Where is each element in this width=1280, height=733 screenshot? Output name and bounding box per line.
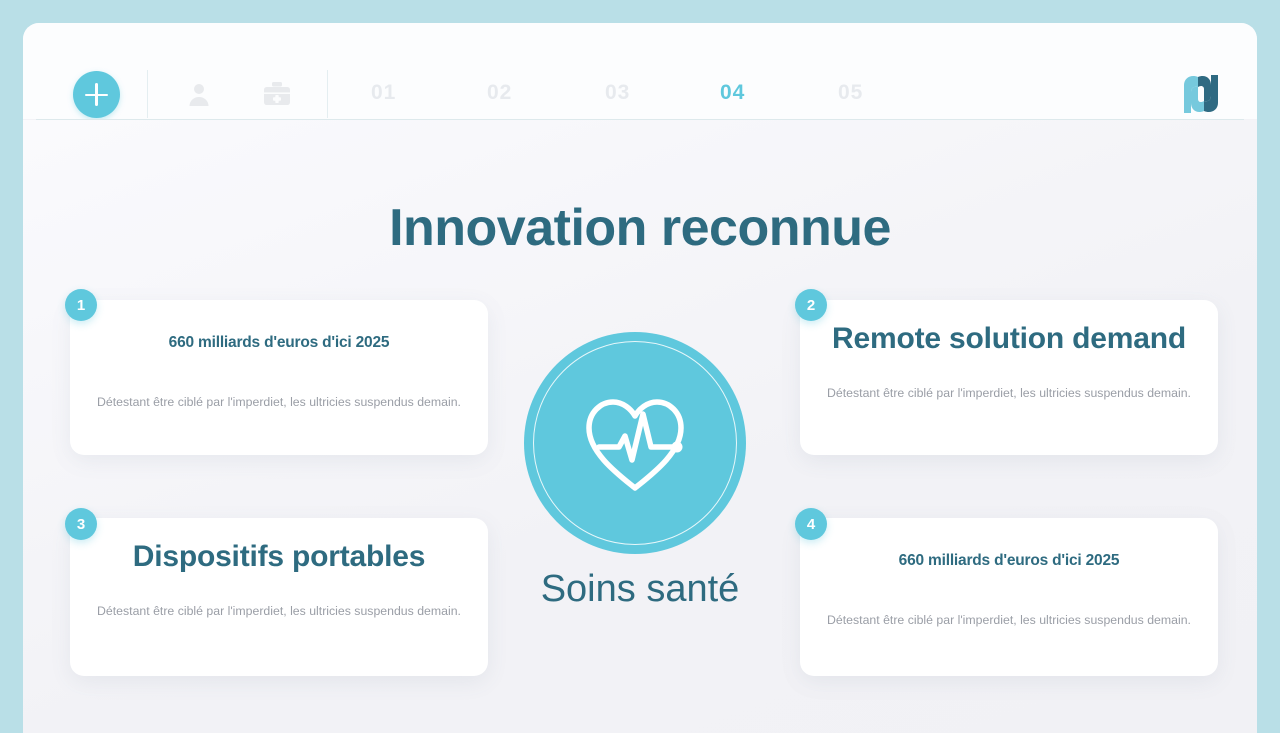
center-label: Soins santé	[23, 568, 1257, 611]
card-badge-1: 1	[65, 289, 97, 321]
brand-monogram-logo	[1178, 71, 1224, 117]
center-emblem	[524, 332, 746, 554]
card-body: Détestant être ciblé par l'imperdiet, le…	[820, 613, 1198, 627]
add-button[interactable]	[73, 71, 120, 118]
slide-body: Innovation reconnue 660 milliards d'euro…	[23, 120, 1257, 733]
nav-step-05[interactable]: 05	[838, 81, 863, 105]
toolbar-divider-right	[327, 70, 328, 118]
medical-kit-icon[interactable]	[263, 81, 291, 107]
top-toolbar: 01 02 03 04 05	[23, 23, 1257, 119]
page-title: Innovation reconnue	[23, 198, 1257, 258]
card-title: Remote solution demand	[800, 322, 1218, 356]
nav-step-02[interactable]: 02	[487, 81, 512, 105]
feature-card-1[interactable]: 660 milliards d'euros d'ici 2025 Détesta…	[70, 300, 488, 455]
heart-pulse-icon	[579, 390, 691, 494]
nav-step-04[interactable]: 04	[720, 81, 745, 105]
slide-canvas: 01 02 03 04 05 Innovation reconnue 660 m…	[23, 23, 1257, 733]
card-badge-4: 4	[795, 508, 827, 540]
nav-step-01[interactable]: 01	[371, 81, 396, 105]
card-badge-3: 3	[65, 508, 97, 540]
plus-icon-vertical	[95, 83, 97, 106]
card-title: 660 milliards d'euros d'ici 2025	[70, 334, 488, 352]
card-badge-2: 2	[795, 289, 827, 321]
nav-step-03[interactable]: 03	[605, 81, 630, 105]
feature-card-2[interactable]: Remote solution demand Détestant être ci…	[800, 300, 1218, 455]
card-body: Détestant être ciblé par l'imperdiet, le…	[90, 395, 468, 409]
toolbar-divider-left	[147, 70, 148, 118]
user-icon[interactable]	[186, 81, 212, 107]
card-body: Détestant être ciblé par l'imperdiet, le…	[820, 386, 1198, 400]
